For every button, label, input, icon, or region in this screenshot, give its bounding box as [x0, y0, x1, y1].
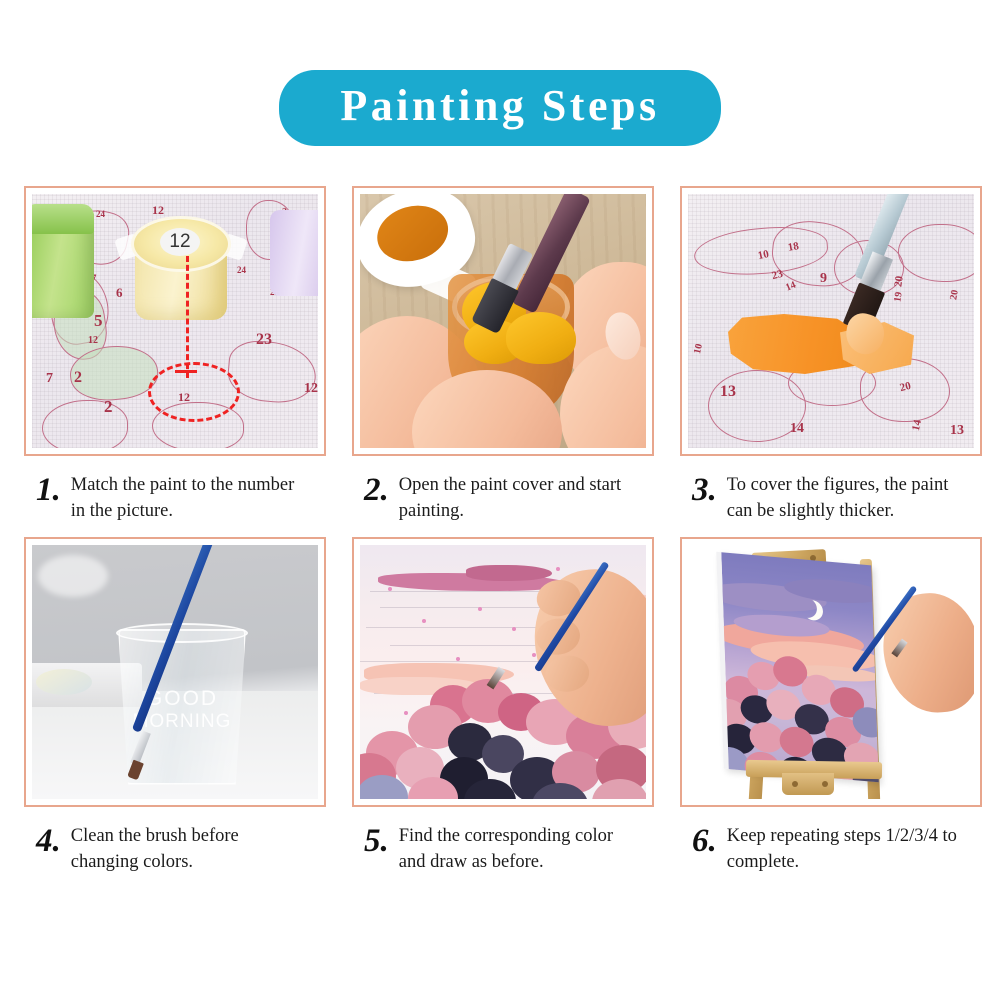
step-caption-4: 4. Clean the brush before changing color…: [24, 823, 326, 876]
step-card-3: 10 18 23 14 9 20 19 20 13 14 20 10 20 14…: [680, 186, 982, 525]
step-photo-5: [360, 545, 646, 799]
step-text-5: Find the corresponding color and draw as…: [399, 823, 634, 876]
step-number-1: 1.: [36, 474, 61, 507]
step-number-3: 3.: [692, 474, 717, 507]
soap-bar: [36, 669, 92, 695]
canvas-number: 12: [88, 336, 98, 346]
step-image-frame-1: 12 24 2 24 7 6 5 12 2 7 2 23 24 23 12: [24, 186, 326, 456]
step-caption-3: 3. To cover the figures, the paint can b…: [680, 472, 982, 525]
step-number-6: 6.: [692, 825, 717, 858]
canvas-number: 23: [256, 332, 272, 348]
canvas-number: 14: [790, 422, 804, 436]
steps-grid: 12 24 2 24 7 6 5 12 2 7 2 23 24 23 12: [24, 186, 984, 875]
step-text-1: Match the paint to the number in the pic…: [71, 472, 306, 525]
page-title: Painting Steps: [335, 84, 665, 128]
step-photo-3: 10 18 23 14 9 20 19 20 13 14 20 10 20 14…: [688, 194, 974, 448]
canvas-number: 13: [720, 384, 736, 400]
canvas-number: 12: [304, 382, 318, 396]
dashed-pointer-line: [186, 256, 189, 378]
canvas-number: 10: [693, 343, 705, 355]
step-photo-6: [688, 545, 974, 799]
glass-rim: [116, 623, 248, 643]
step-image-frame-2: [352, 186, 654, 456]
step-caption-6: 6. Keep repeating steps 1/2/3/4 to compl…: [680, 823, 982, 876]
step-caption-1: 1. Match the paint to the number in the …: [24, 472, 326, 525]
step-image-frame-3: 10 18 23 14 9 20 19 20 13 14 20 10 20 14…: [680, 186, 982, 456]
canvas-number: 18: [787, 241, 800, 254]
canvas-number: 19: [893, 291, 904, 302]
paint-pot-green-lid: [32, 204, 94, 234]
step-card-2: 2. Open the paint cover and start painti…: [352, 186, 654, 525]
blurred-object: [38, 555, 108, 597]
canvas-number: 10: [757, 249, 770, 262]
canvas-number: 14: [911, 419, 924, 432]
step-text-2: Open the paint cover and start painting.: [399, 472, 634, 525]
step-number-5: 5.: [364, 825, 389, 858]
painted-band: [466, 565, 552, 581]
dashed-highlight-circle: [148, 362, 240, 422]
canvas-number: 24: [96, 210, 105, 219]
step-number-2: 2.: [364, 474, 389, 507]
canvas-number: 7: [46, 372, 53, 386]
step-text-4: Clean the brush before changing colors.: [71, 823, 306, 876]
canvas-number: 6: [116, 286, 123, 299]
step-card-5: 5. Find the corresponding color and draw…: [352, 537, 654, 876]
step-image-frame-4: GOOD MORNING: [24, 537, 326, 807]
step-photo-2: [360, 194, 646, 448]
step-card-1: 12 24 2 24 7 6 5 12 2 7 2 23 24 23 12: [24, 186, 326, 525]
step-text-3: To cover the figures, the paint can be s…: [727, 472, 962, 525]
step-card-4: GOOD MORNING 4. Clean the brush before c…: [24, 537, 326, 876]
step-photo-4: GOOD MORNING: [32, 545, 318, 799]
canvas-number: 20: [893, 275, 905, 287]
paint-pot-highlighted: 12: [125, 210, 237, 322]
step-number-4: 4.: [36, 825, 61, 858]
step-image-frame-5: [352, 537, 654, 807]
title-pill: Painting Steps: [279, 70, 721, 146]
canvas-number: 2: [74, 370, 82, 386]
step-card-6: 6. Keep repeating steps 1/2/3/4 to compl…: [680, 537, 982, 876]
paint-glob: [506, 312, 576, 364]
canvas-number: 20: [949, 289, 961, 301]
page-header: Painting Steps: [0, 70, 1000, 146]
target-region-number: 12: [178, 390, 190, 405]
step-caption-2: 2. Open the paint cover and start painti…: [352, 472, 654, 525]
step-caption-5: 5. Find the corresponding color and draw…: [352, 823, 654, 876]
paint-pot-number-label: 12: [160, 228, 200, 256]
step-text-6: Keep repeating steps 1/2/3/4 to complete…: [727, 823, 962, 876]
glass-text-line-1: GOOD: [118, 687, 246, 711]
step-photo-1: 12 24 2 24 7 6 5 12 2 7 2 23 24 23 12: [32, 194, 318, 448]
canvas-number: 9: [820, 272, 827, 286]
canvas-number: 2: [104, 398, 113, 415]
canvas-number: 24: [237, 266, 246, 275]
step-image-frame-6: [680, 537, 982, 807]
canvas-number: 13: [950, 424, 964, 438]
canvas-number: 5: [94, 312, 103, 329]
paint-pot-purple: [270, 210, 318, 296]
